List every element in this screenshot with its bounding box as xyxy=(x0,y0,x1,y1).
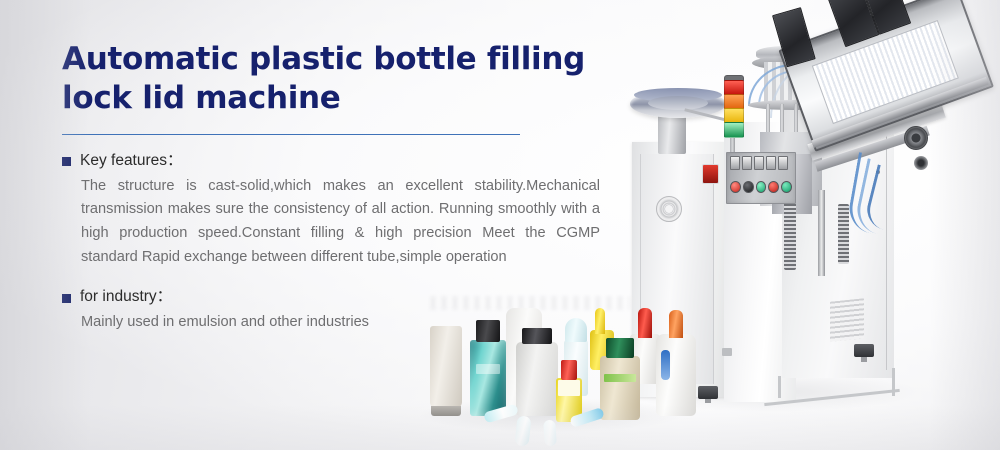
spring-coil xyxy=(838,204,849,264)
section-heading-label: Key features： xyxy=(80,152,183,171)
product-banner: Automatic plastic bottle filling lock li… xyxy=(0,0,1000,450)
pilot-lamp xyxy=(778,156,788,170)
bottle-cap xyxy=(606,338,634,358)
pilot-lamp-row xyxy=(730,156,792,169)
lying-tube xyxy=(514,415,531,446)
lying-tube xyxy=(543,420,557,447)
drive-pulley-small xyxy=(914,156,928,170)
bottle-body xyxy=(470,340,506,416)
push-button-black xyxy=(743,181,754,193)
bottle-group xyxy=(424,300,674,430)
pilot-lamp xyxy=(730,156,740,170)
push-button-red xyxy=(730,181,741,193)
leveling-foot xyxy=(698,386,718,399)
bottle-matte-cosmetic-tube xyxy=(430,326,462,416)
bottle-frosted-black-cap-bottle xyxy=(516,328,558,416)
push-button-green xyxy=(781,181,792,193)
lower-support-post xyxy=(892,368,895,396)
bottle-cap xyxy=(561,360,577,380)
bottle-teal-perfume-bottle xyxy=(470,320,506,416)
bullet-square-icon xyxy=(62,157,71,166)
ventilation-louvers xyxy=(830,298,864,342)
bottle-cap xyxy=(431,406,461,416)
pilot-lamp xyxy=(754,156,764,170)
text-panel: Automatic plastic bottle filling lock li… xyxy=(62,40,607,334)
tube-magazine-hopper xyxy=(778,0,988,148)
bowl-feeder-interior xyxy=(648,96,708,110)
section-body-text: The structure is cast-solid,which makes … xyxy=(81,175,600,270)
bottle-label xyxy=(558,380,580,396)
spring-coil xyxy=(784,200,796,270)
section-heading-row: Key features： xyxy=(62,152,607,171)
bottle-label xyxy=(476,364,500,374)
bowl-feeder-base xyxy=(658,112,686,154)
bottle-blue-label xyxy=(661,350,670,380)
guide-rod xyxy=(818,190,825,276)
bottle-body xyxy=(516,342,558,416)
stack-light-green xyxy=(724,122,744,138)
fan-grille-icon xyxy=(656,196,682,222)
drive-pulley xyxy=(904,126,928,150)
title-divider xyxy=(62,134,520,135)
pilot-lamp xyxy=(766,156,776,170)
push-button-row xyxy=(730,180,792,194)
feature-section-key-features: Key features： The structure is cast-soli… xyxy=(62,152,607,269)
bottle-red-cap-label-bottle xyxy=(556,360,582,422)
bottle-spray-nozzle xyxy=(595,308,605,334)
section-heading-label: for industry： xyxy=(80,288,172,307)
bottle-body xyxy=(430,326,462,408)
push-button-red xyxy=(768,181,779,193)
leveling-foot xyxy=(854,344,874,357)
pilot-lamp xyxy=(742,156,752,170)
side-bracket xyxy=(722,348,732,356)
bullet-square-icon xyxy=(62,294,71,303)
push-button-green xyxy=(756,181,767,193)
page-title: Automatic plastic bottle filling lock li… xyxy=(62,40,607,118)
bottle-cap xyxy=(669,310,683,338)
bottle-cap xyxy=(565,318,587,342)
bottle-label xyxy=(604,374,636,382)
bottle-orange-tip-jug xyxy=(656,310,696,416)
bottle-beige-green-cap-bottle xyxy=(600,338,640,420)
lower-support-post xyxy=(778,376,781,398)
bottle-cap xyxy=(476,320,500,342)
bottle-cap xyxy=(638,308,652,338)
bottle-cap xyxy=(522,328,552,344)
bottle-body xyxy=(600,356,640,420)
emergency-stop-switch xyxy=(702,164,719,184)
